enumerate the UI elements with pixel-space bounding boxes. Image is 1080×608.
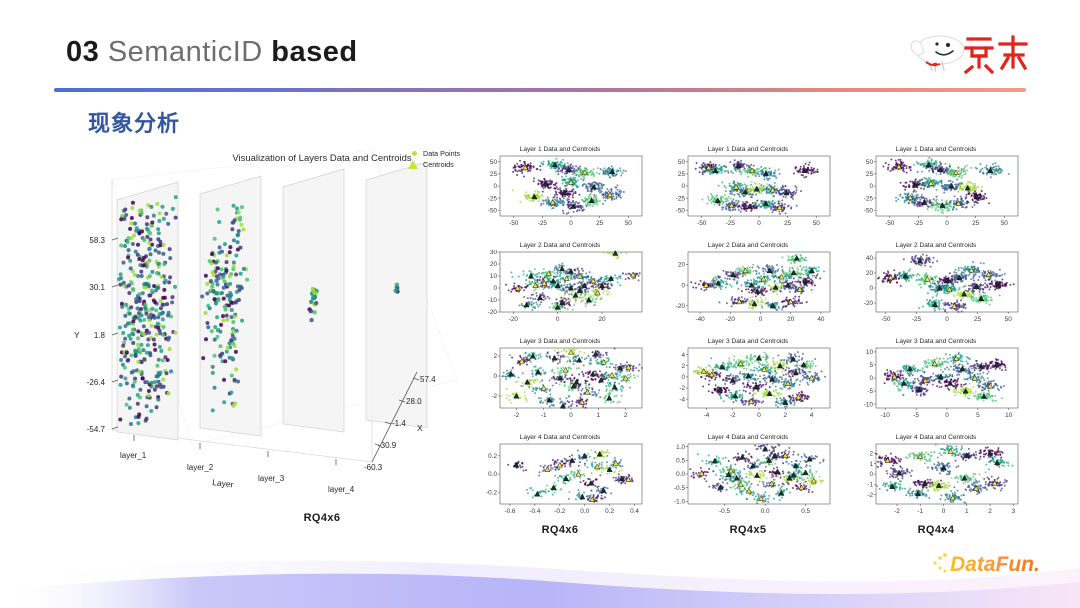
- figure-3d-caption: RQ4x6: [242, 512, 402, 524]
- svg-text:X: X: [417, 423, 423, 433]
- page-title-number: 03: [66, 36, 99, 68]
- panel-title: Layer 3 Data and Centroids: [658, 338, 838, 345]
- page-title-middle: SemanticID: [99, 36, 271, 68]
- svg-text:2: 2: [624, 412, 628, 419]
- svg-text:-50: -50: [697, 220, 707, 227]
- svg-text:-0.6: -0.6: [504, 508, 515, 515]
- svg-text:-0.4: -0.4: [529, 508, 540, 515]
- svg-text:0: 0: [493, 183, 497, 190]
- svg-text:-0.2: -0.2: [486, 489, 497, 496]
- panel-col2-layer4: Layer 4 Data and Centroids 1.00.50.0-0.5…: [658, 434, 838, 522]
- layer-axis: layer_1 layer_2 layer_3 layer_4 Layer: [120, 435, 355, 494]
- svg-text:50: 50: [625, 220, 633, 227]
- svg-text:-25: -25: [676, 195, 686, 202]
- svg-text:30: 30: [490, 250, 498, 256]
- svg-text:-54.7: -54.7: [87, 425, 106, 434]
- svg-text:-25: -25: [726, 220, 736, 227]
- panel-title: Layer 4 Data and Centroids: [846, 434, 1026, 441]
- svg-text:0.2: 0.2: [488, 453, 497, 460]
- svg-text:57.4: 57.4: [420, 375, 436, 384]
- panel-col2-layer3: Layer 3 Data and Centroids 420-2-4-4-202…: [658, 338, 838, 426]
- panel-col1-layer3: Layer 3 Data and Centroids 20-2-2-1012: [470, 338, 650, 426]
- data-point-marker-icon: [407, 151, 418, 156]
- svg-text:-1: -1: [541, 412, 547, 419]
- svg-text:25: 25: [490, 171, 498, 178]
- svg-text:0: 0: [757, 220, 761, 227]
- svg-text:-2: -2: [514, 412, 520, 419]
- page-title: 03 SemanticID based: [66, 36, 358, 69]
- centroid-marker-icon: [407, 160, 418, 169]
- svg-text:layer_4: layer_4: [328, 485, 355, 494]
- column-caption-rq4x5: RQ4x5: [658, 524, 838, 536]
- panel-col1-layer4: Layer 4 Data and Centroids 0.20.0-0.2-0.…: [470, 434, 650, 522]
- svg-text:20: 20: [490, 261, 498, 268]
- jd-logo: [906, 28, 1034, 78]
- datafun-logo: DataFun.: [932, 550, 1054, 576]
- jd-wordmark: [966, 37, 1026, 72]
- svg-text:30.1: 30.1: [89, 283, 105, 292]
- figure-3d-legend: Data Points Centroids: [407, 148, 460, 170]
- panel-title: Layer 1 Data and Centroids: [470, 146, 650, 153]
- svg-text:-20: -20: [488, 309, 498, 316]
- panel-title: Layer 2 Data and Centroids: [658, 242, 838, 249]
- layer-planes: [117, 162, 427, 440]
- svg-text:25: 25: [678, 171, 686, 178]
- datafun-dots-icon: [933, 553, 947, 572]
- svg-text:28.0: 28.0: [406, 397, 422, 406]
- legend-label-data-points: Data Points: [423, 148, 460, 159]
- svg-text:-25: -25: [488, 195, 498, 202]
- panel-title: Layer 4 Data and Centroids: [470, 434, 650, 441]
- svg-text:-10: -10: [488, 297, 498, 304]
- legend-item-centroids: Centroids: [407, 159, 460, 170]
- svg-text:50: 50: [678, 159, 686, 166]
- panel-col1-layer2: Layer 2 Data and Centroids 3020100-10-20…: [470, 242, 650, 330]
- svg-text:Y: Y: [74, 330, 80, 340]
- panel-col2-layer2: Layer 2 Data and Centroids 200-20-40-200…: [658, 242, 838, 330]
- svg-text:-50: -50: [488, 207, 498, 214]
- panel-col2-layer1: Layer 1 Data and Centroids 50250-25-50-5…: [658, 146, 838, 234]
- figure-3d-title: Visualization of Layers Data and Centroi…: [202, 153, 442, 164]
- header-divider: [54, 88, 1026, 92]
- svg-text:50: 50: [813, 220, 821, 227]
- svg-text:Layer: Layer: [212, 477, 234, 490]
- column-caption-rq4x6: RQ4x6: [470, 524, 650, 536]
- svg-text:-25: -25: [538, 220, 548, 227]
- svg-text:10: 10: [490, 273, 498, 280]
- svg-text:2: 2: [493, 353, 497, 360]
- svg-text:layer_2: layer_2: [187, 463, 214, 472]
- datafun-wordmark: DataFun.: [950, 553, 1040, 576]
- page-title-end: based: [271, 36, 357, 68]
- panel-title: Layer 1 Data and Centroids: [658, 146, 838, 153]
- panel-col3-layer1: Layer 1 Data and Centroids 50250-25-50-5…: [846, 146, 1026, 234]
- svg-text:50: 50: [490, 159, 498, 166]
- chart-column-rq4x6: Layer 1 Data and Centroids 50250-25-50-5…: [470, 146, 650, 546]
- chart-column-rq4x5: Layer 1 Data and Centroids 50250-25-50-5…: [658, 146, 838, 546]
- svg-text:25: 25: [596, 220, 604, 227]
- small-multiples-grid: Layer 1 Data and Centroids 50250-25-50-5…: [470, 146, 1040, 546]
- jd-dog-mascot: [911, 36, 964, 71]
- svg-text:0: 0: [569, 412, 573, 419]
- chart-column-rq4x4: Layer 1 Data and Centroids 50250-25-50-5…: [846, 146, 1026, 546]
- section-title: 现象分析: [88, 106, 180, 138]
- panel-title: Layer 1 Data and Centroids: [846, 146, 1026, 153]
- svg-text:-60.3: -60.3: [364, 463, 383, 472]
- y-axis: 58.3 30.1 1.8 -26.4 -54.7 Y: [74, 236, 118, 434]
- panel-title: Layer 3 Data and Centroids: [470, 338, 650, 345]
- svg-text:25: 25: [784, 220, 792, 227]
- svg-text:-1.4: -1.4: [392, 419, 406, 428]
- svg-text:0.2: 0.2: [605, 508, 614, 515]
- legend-label-centroids: Centroids: [423, 159, 454, 170]
- panel-col1-layer1: Layer 1 Data and Centroids 50250-25-50-5…: [470, 146, 650, 234]
- figure-3d-canvas: 58.3 30.1 1.8 -26.4 -54.7 Y layer_1 laye…: [72, 140, 472, 510]
- svg-text:1.8: 1.8: [94, 331, 106, 340]
- svg-text:0.0: 0.0: [580, 508, 589, 515]
- legend-item-data-points: Data Points: [407, 148, 460, 159]
- panel-title: Layer 3 Data and Centroids: [846, 338, 1026, 345]
- svg-text:0.0: 0.0: [488, 471, 497, 478]
- panel-title: Layer 2 Data and Centroids: [470, 242, 650, 249]
- svg-text:58.3: 58.3: [89, 236, 105, 245]
- svg-text:-50: -50: [676, 207, 686, 214]
- panel-title: Layer 4 Data and Centroids: [658, 434, 838, 441]
- figure-3d-scatter: Visualization of Layers Data and Centroi…: [72, 140, 472, 540]
- svg-text:0: 0: [493, 285, 497, 292]
- panel-col3-layer4: Layer 4 Data and Centroids 210-1-2-2-101…: [846, 434, 1026, 522]
- panel-col3-layer3: Layer 3 Data and Centroids 1050-5-10-10-…: [846, 338, 1026, 426]
- svg-text:-50: -50: [509, 220, 519, 227]
- svg-text:layer_3: layer_3: [258, 474, 285, 483]
- svg-text:0: 0: [556, 316, 560, 323]
- svg-text:1: 1: [597, 412, 601, 419]
- svg-text:-26.4: -26.4: [87, 378, 106, 387]
- svg-text:0: 0: [493, 373, 497, 380]
- column-caption-rq4x4: RQ4x4: [846, 524, 1026, 536]
- svg-text:-30.9: -30.9: [378, 441, 397, 450]
- svg-text:-0.2: -0.2: [554, 508, 565, 515]
- svg-text:layer_1: layer_1: [120, 451, 147, 460]
- svg-text:0.4: 0.4: [630, 508, 639, 515]
- panel-title: Layer 2 Data and Centroids: [846, 242, 1026, 249]
- svg-text:0: 0: [681, 183, 685, 190]
- panel-col3-layer2: Layer 2 Data and Centroids 40200-20-50-2…: [846, 242, 1026, 330]
- svg-text:-20: -20: [509, 316, 519, 323]
- svg-text:0: 0: [569, 220, 573, 227]
- svg-text:20: 20: [599, 316, 607, 323]
- decorative-wave: [0, 538, 1080, 608]
- svg-text:-2: -2: [491, 393, 497, 400]
